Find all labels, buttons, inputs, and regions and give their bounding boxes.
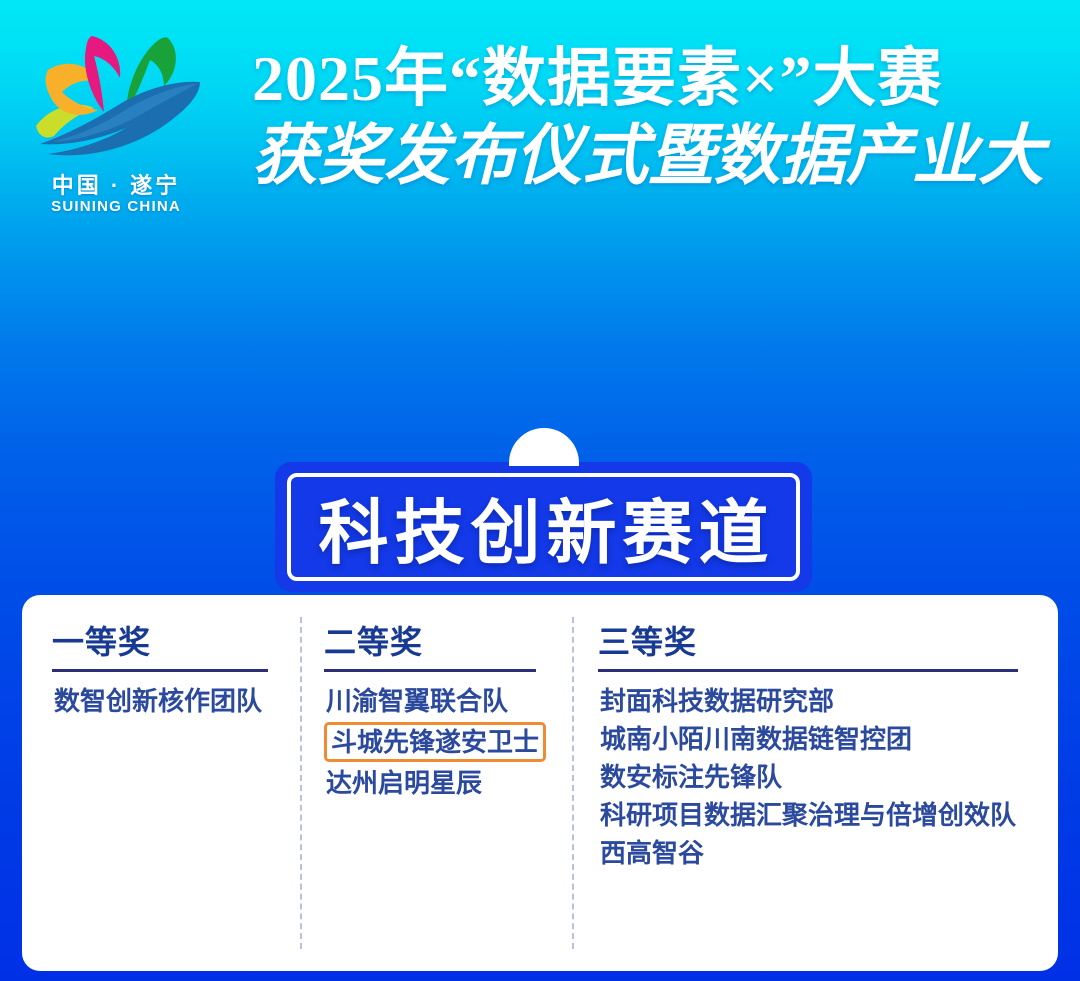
event-title-line-2: 获奖发布仪式暨数据产业大 <box>252 118 1080 196</box>
team-item: 数智创新核作团队 <box>52 682 300 720</box>
team-item-highlighted: 斗城先锋遂安卫士 <box>324 722 546 762</box>
team-list-first-prize: 数智创新核作团队 <box>52 682 300 720</box>
event-title-line-1: 2025年“数据要素×”大赛 <box>252 40 1080 118</box>
suining-butterfly-logo-icon <box>28 22 204 164</box>
team-item: 数安标注先锋队 <box>598 758 1058 796</box>
award-rule <box>324 669 536 672</box>
track-title-text: 科技创新赛道 <box>275 462 812 592</box>
team-item: 封面科技数据研究部 <box>598 682 1058 720</box>
award-column-second-prize: 二等奖 川渝智翼联合队 斗城先锋遂安卫士 达州启明星辰 <box>300 595 572 971</box>
poster-header: 中国 · 遂宁 SUINING CHINA 2025年“数据要素×”大赛 获奖发… <box>0 0 1080 236</box>
poster-root: 中国 · 遂宁 SUINING CHINA 2025年“数据要素×”大赛 获奖发… <box>0 0 1080 981</box>
award-title-second-prize: 二等奖 <box>324 625 423 659</box>
team-item: 城南小陌川南数据链智控团 <box>598 720 1058 758</box>
team-item: 达州启明星辰 <box>324 764 572 802</box>
team-list-third-prize: 封面科技数据研究部 城南小陌川南数据链智控团 数安标注先锋队 科研项目数据汇聚治… <box>598 682 1058 872</box>
award-column-first-prize: 一等奖 数智创新核作团队 <box>22 595 300 971</box>
award-title-third-prize: 三等奖 <box>598 625 697 659</box>
event-title: 2025年“数据要素×”大赛 获奖发布仪式暨数据产业大 <box>252 40 1080 196</box>
results-card: 一等奖 数智创新核作团队 二等奖 川渝智翼联合队 斗城先锋遂安卫士 达州启明星辰… <box>22 595 1058 971</box>
award-rule <box>52 669 268 672</box>
track-banner: 科技创新赛道 <box>275 462 812 592</box>
award-column-third-prize: 三等奖 封面科技数据研究部 城南小陌川南数据链智控团 数安标注先锋队 科研项目数… <box>572 595 1058 971</box>
team-item: 川渝智翼联合队 <box>324 682 572 720</box>
suining-logo-block: 中国 · 遂宁 SUINING CHINA <box>28 22 204 222</box>
team-item: 科研项目数据汇聚治理与倍增创效队 <box>598 796 1058 834</box>
logo-english-text: SUINING CHINA <box>28 198 204 215</box>
award-rule <box>598 669 1018 672</box>
track-banner-notch <box>509 428 579 466</box>
team-list-second-prize: 川渝智翼联合队 斗城先锋遂安卫士 达州启明星辰 <box>324 682 572 802</box>
award-columns: 一等奖 数智创新核作团队 二等奖 川渝智翼联合队 斗城先锋遂安卫士 达州启明星辰… <box>22 595 1058 971</box>
award-title-first-prize: 一等奖 <box>52 625 151 659</box>
team-item: 西高智谷 <box>598 834 1058 872</box>
logo-chinese-text: 中国 · 遂宁 <box>28 168 204 200</box>
